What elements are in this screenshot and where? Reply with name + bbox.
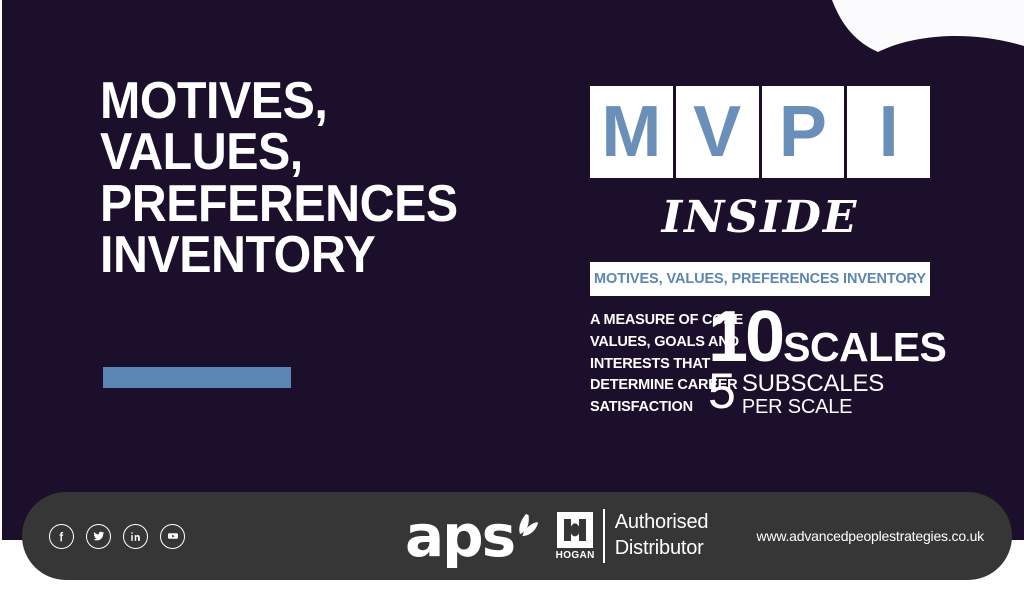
subscales-label: SUBSCALES [742, 372, 884, 396]
subscales-stat: 5 SUBSCALES PER SCALE [708, 371, 933, 418]
inventory-banner-text: MOTIVES, VALUES, PREFERENCES INVENTORY [594, 271, 926, 287]
subscales-number: 5 [708, 371, 735, 412]
accent-bar [103, 367, 291, 388]
mvpi-tile-p: P [762, 86, 845, 178]
facebook-icon[interactable] [49, 524, 74, 549]
twitter-icon[interactable] [86, 524, 111, 549]
youtube-icon[interactable] [160, 524, 185, 549]
stats-block: 10 SCALES 5 SUBSCALES PER SCALE [708, 306, 933, 418]
headline-line-2: VALUES, [100, 127, 528, 178]
website-url[interactable]: www.advancedpeoplestrategies.co.uk [757, 528, 984, 544]
right-column: M V P I INSIDE MOTIVES, VALUES, PREFEREN… [590, 86, 930, 450]
hogan-mark: HOGAN [556, 512, 594, 561]
linkedin-icon[interactable] [123, 524, 148, 549]
headline-line-4: INVENTORY [100, 230, 528, 281]
hogan-authorised-distributor: HOGAN Authorised Distributor [556, 509, 708, 563]
brand-group: aps HOGAN [405, 507, 708, 565]
mvpi-logo-tiles: M V P I [590, 86, 930, 178]
leaf-icon [506, 493, 540, 551]
authorised-distributor-text: Authorised Distributor [615, 510, 709, 561]
aps-logo: aps [405, 507, 514, 565]
poster-canvas: MOTIVES, VALUES, PREFERENCES INVENTORY M… [0, 0, 1024, 600]
scales-number: 10 [708, 306, 782, 369]
scales-stat: 10 SCALES [708, 306, 933, 369]
subscales-qualifier: PER SCALE [742, 397, 884, 419]
scales-label: SCALES [783, 329, 946, 365]
headline-line-3: PREFERENCES [100, 179, 528, 230]
mvpi-tile-i: I [847, 86, 930, 178]
headline-line-1: MOTIVES, [100, 76, 528, 127]
main-panel: MOTIVES, VALUES, PREFERENCES INVENTORY M… [2, 0, 1024, 540]
mvpi-tile-m: M [590, 86, 673, 178]
social-links [49, 524, 185, 549]
inventory-banner: MOTIVES, VALUES, PREFERENCES INVENTORY [590, 262, 930, 296]
hogan-wordmark: HOGAN [556, 550, 595, 561]
inside-wordmark: INSIDE [590, 196, 930, 240]
hogan-divider [603, 509, 605, 563]
mvpi-tile-v: V [676, 86, 759, 178]
subscales-label-group: SUBSCALES PER SCALE [742, 371, 884, 418]
aps-wordmark: aps [405, 502, 514, 570]
footer-bar: aps HOGAN [22, 492, 1012, 580]
hogan-arch-icon [557, 512, 593, 548]
distributor-line: Distributor [615, 536, 709, 562]
info-row: A MEASURE OF CORE VALUES, GOALS AND INTE… [590, 310, 930, 450]
corner-leaf-decoration [804, 0, 1024, 86]
page-title: MOTIVES, VALUES, PREFERENCES INVENTORY [100, 76, 528, 282]
authorised-line: Authorised [615, 510, 709, 536]
